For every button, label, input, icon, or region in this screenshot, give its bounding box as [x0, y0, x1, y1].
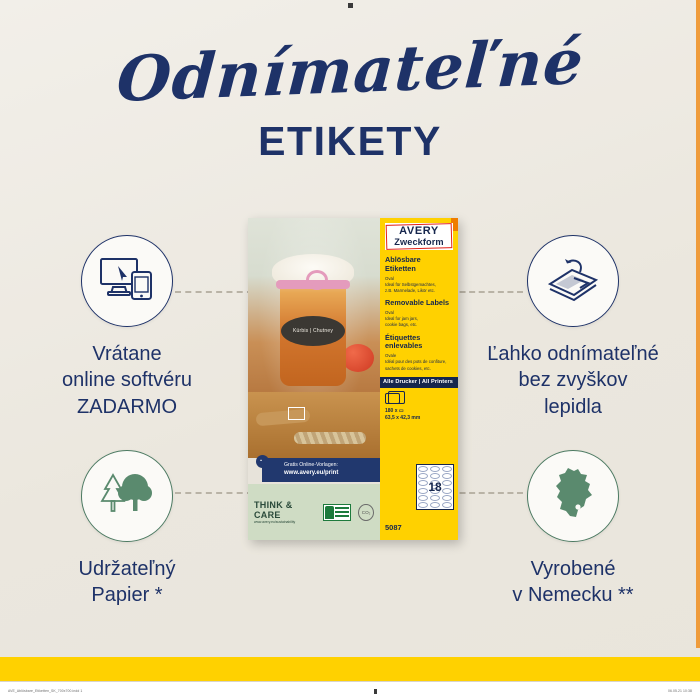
fsc-badge [323, 504, 351, 521]
footer-right-note: 06.05.21 10:38 [668, 689, 692, 693]
feature-label: Ľahko odnímateľné bez zvyškov lepidla [473, 341, 673, 420]
co2-badge: CO₂ [358, 504, 374, 521]
eco-badge-strip: THINK & CARE www.avery.eu/sustainability… [248, 484, 380, 540]
info-title-de-1: Ablösbare [385, 255, 421, 264]
feature-online-software: Vrátane online softvéru ZADARMO [27, 235, 227, 420]
zweckform-wordmark: Zweckform [387, 237, 451, 247]
label-oval [430, 466, 440, 472]
sheets-stack-icon [385, 393, 400, 404]
feature-removable: Ľahko odnímateľné bez zvyškov lepidla [473, 235, 673, 420]
feature-label: Udržateľný Papier * [27, 556, 227, 609]
feature-icon-circle [81, 235, 173, 327]
bottom-yellow-bar [0, 657, 700, 681]
footer-crop-mark [374, 689, 377, 694]
jar-ribbon-bow [306, 270, 328, 290]
info-desc-fr: Ovale Idéal pour des pots de confiture, … [385, 353, 453, 372]
feature-label: Vyrobené v Nemecku ** [473, 556, 673, 609]
labels-per-sheet-count: 18 [428, 480, 441, 494]
trees-icon [99, 469, 155, 524]
label-quantity: 180 x [385, 408, 398, 414]
feature-sustainable-paper: Udržateľný Papier * [27, 450, 227, 609]
info-block-en: Removable Labels Oval Ideal for jam jars… [385, 299, 453, 328]
product-package[interactable]: Kürbis | Chutney + Gratis Online-Vorlage… [248, 218, 458, 540]
label-oval [430, 473, 440, 479]
fsc-tree-icon [325, 506, 334, 519]
label-oval [418, 495, 428, 501]
info-title-fr-1: Étiquettes [385, 333, 420, 342]
print-footer: AVE_Ablösbare_Etiketten_SK_700x700.indd … [0, 681, 700, 700]
label-oval [418, 502, 428, 508]
label-oval [442, 502, 452, 508]
label-oval [430, 495, 440, 501]
label-oval [430, 502, 440, 508]
label-oval [418, 473, 428, 479]
label-oval [442, 480, 452, 486]
think-care-url: www.avery.eu/sustainability [254, 520, 316, 524]
feature-icon-circle [81, 450, 173, 542]
label-oval [442, 473, 452, 479]
info-title-fr-2: enlevables [385, 341, 422, 350]
label-layout-grid: 18 [416, 464, 454, 510]
info-desc-en: Oval Ideal for jam jars, cookie bags, et… [385, 310, 453, 329]
feature-label: Vrátane online softvéru ZADARMO [27, 341, 227, 420]
label-oval [418, 466, 428, 472]
poster-canvas: Odnímateľné ETIKETY Vrátane online [0, 0, 700, 700]
monitor-smartphone-icon [99, 256, 155, 307]
label-oval [442, 466, 452, 472]
jam-jar-photo: Kürbis | Chutney [248, 218, 380, 458]
product-code: 5087 [385, 523, 402, 532]
label-oval [418, 480, 428, 486]
info-desc-de: Oval Ideal für Selbstgemachtes, z.B. Mar… [385, 276, 453, 295]
footer-left-note: AVE_Ablösbare_Etiketten_SK_700x700.indd … [8, 689, 82, 693]
promo-line-2: www.avery.eu/print [284, 469, 338, 477]
feature-icon-circle [527, 450, 619, 542]
label-oval [418, 488, 428, 494]
headline-subtitle: ETIKETY [0, 118, 700, 165]
info-block-de: Ablösbare Etiketten Oval Ideal für Selbs… [385, 256, 453, 294]
label-oval [442, 488, 452, 494]
fsc-label-bars [335, 507, 349, 518]
quantity-info: 180 x ▭ 63,5 x 42,3 mm [385, 408, 453, 423]
label-dimensions: 63,5 x 42,3 mm [385, 415, 420, 421]
feature-icon-circle [527, 235, 619, 327]
feature-made-in-germany: Vyrobené v Nemecku ** [473, 450, 673, 609]
package-info-panel: AVERY Zweckform Ablösbare Etiketten Oval… [380, 218, 458, 540]
germany-map-icon [548, 466, 598, 527]
headline-block: Odnímateľné ETIKETY [0, 40, 700, 165]
info-title-de-2: Etiketten [385, 264, 416, 273]
rope [294, 432, 366, 444]
package-photo-panel: Kürbis | Chutney + Gratis Online-Vorlage… [248, 218, 380, 540]
jar-label-text: Kürbis | Chutney [293, 328, 333, 334]
printers-compatibility-bar: Alle Drucker | All Printers [380, 377, 458, 388]
info-block-fr: Étiquettes enlevables Ovale Idéal pour d… [385, 334, 453, 372]
think-care-logo: THINK & CARE www.avery.eu/sustainability [254, 500, 316, 524]
avery-zweckform-logo: AVERY Zweckform [385, 223, 453, 250]
headline-script: Odnímateľné [115, 31, 586, 111]
avery-wordmark: AVERY [387, 226, 451, 237]
info-title-en: Removable Labels [385, 298, 449, 307]
label-oval [442, 495, 452, 501]
promo-line-1: Gratis Online-Vorlagen: [284, 462, 338, 468]
promo-banner: Gratis Online-Vorlagen: www.avery.eu/pri… [262, 458, 380, 482]
peeling-label-icon [544, 256, 602, 307]
promo-banner-text: Gratis Online-Vorlagen: www.avery.eu/pri… [284, 462, 338, 477]
jar-oval-label: Kürbis | Chutney [281, 316, 345, 346]
monitor-icon [288, 407, 305, 420]
crop-mark-top [348, 3, 353, 8]
tomato [342, 344, 374, 372]
